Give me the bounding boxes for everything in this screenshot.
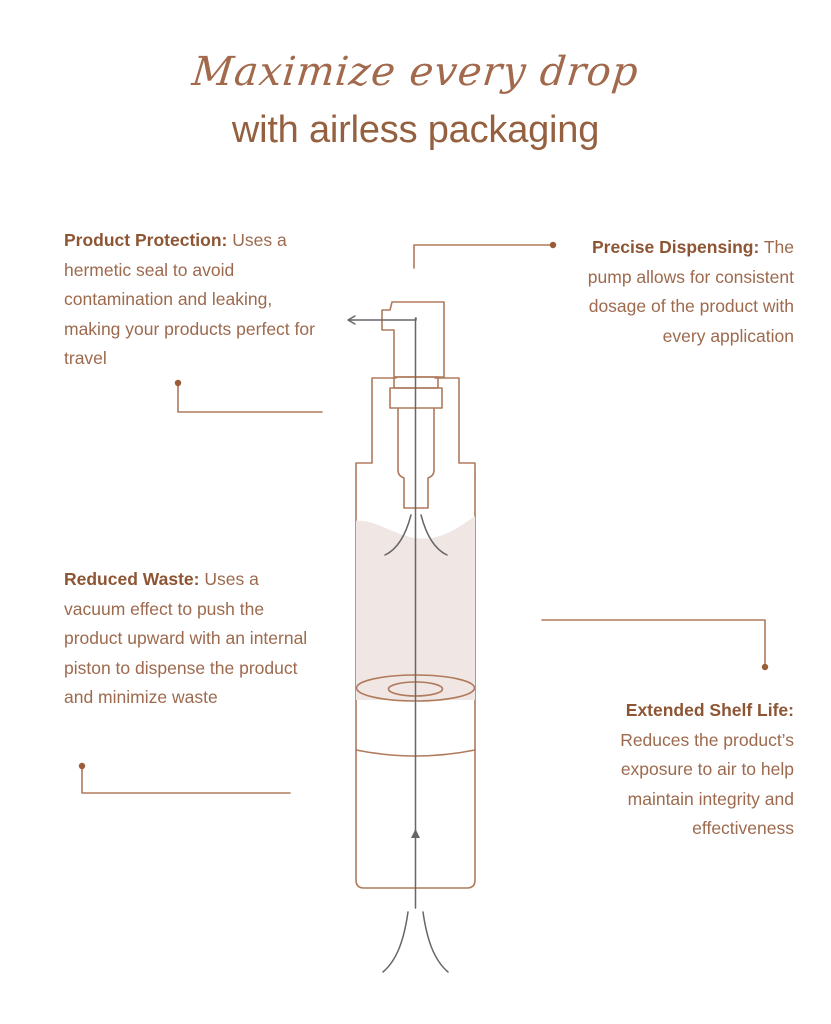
connector-precise-dispensing (414, 242, 556, 268)
airless-bottle-illustration (0, 0, 831, 1024)
airflow-lines-lower (383, 912, 448, 972)
connector-extended-shelf-life (542, 620, 768, 670)
vacuum-arrow-up (411, 829, 420, 838)
pump-actuator-head (382, 302, 444, 377)
connector-reduced-waste (79, 763, 290, 793)
connector-product-protection (175, 380, 322, 412)
